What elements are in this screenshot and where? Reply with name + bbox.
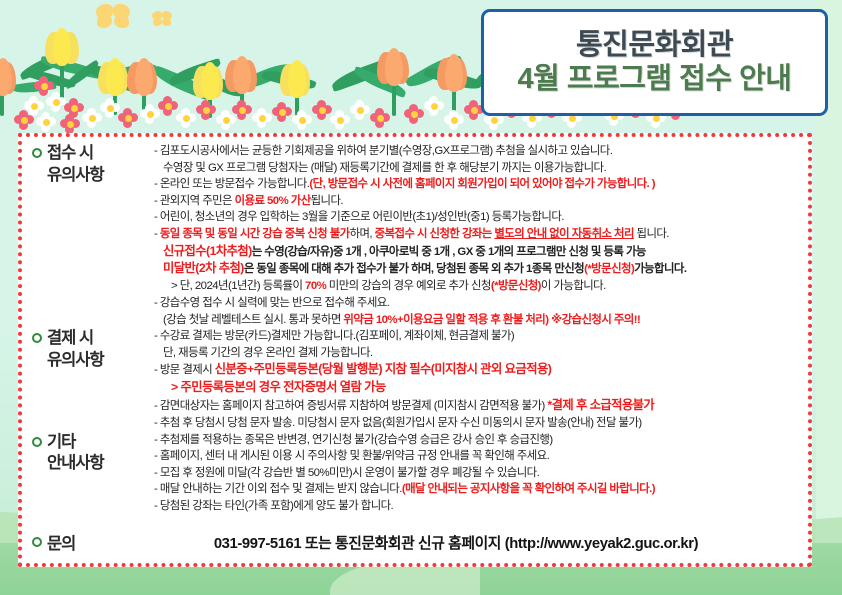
- notice-section-row: 결제 시 유의사항- 수강료 결제는 방문(카드)결제만 가능합니다.(김포페이…: [32, 328, 800, 431]
- notice-line: 미달반(2차 추첨)은 동일 종목에 대해 추가 접수가 불가 하며, 당첨된 …: [154, 260, 800, 278]
- notice-text-run: 신규접수(1차추첨): [163, 244, 252, 258]
- notice-text-run: - 추첨제를 적용하는 종목은 반변경, 연기신청 불가(강습수영 승급은 강사…: [154, 434, 553, 446]
- notice-text-run: - 수강료 결제는 방문(카드)결제만 가능합니다.(김포페이, 계좌이체, 현…: [154, 330, 514, 342]
- notice-text-run: - 강습수영 접수 시 실력에 맞는 반으로 접수해 주세요.: [154, 297, 389, 309]
- pink-flower-icon: [312, 100, 332, 120]
- notice-section-lines-cell: - 추첨제를 적용하는 종목은 반변경, 연기신청 불가(강습수영 승급은 강사…: [154, 432, 800, 515]
- pink-flower-icon: [404, 104, 424, 124]
- notice-line: - 어린이, 청소년의 경우 입학하는 3월을 기준으로 어린이반(초1)/성인…: [154, 209, 800, 226]
- notice-text-run: 단, 재등록 기간의 경우 온라인 결제 가능합니다.: [163, 347, 373, 359]
- pink-flower-icon: [118, 108, 138, 128]
- daisy-icon: [176, 108, 196, 128]
- notice-line: - 강습수영 접수 시 실력에 맞는 반으로 접수해 주세요.: [154, 295, 800, 312]
- tulip-yellow-icon: [98, 58, 128, 92]
- tulip-yellow-icon: [193, 62, 223, 96]
- contact-row: 문의 031-997-5161 또는 통진문화회관 신규 홈페이지 (http:…: [32, 527, 798, 557]
- daisy-icon: [350, 100, 370, 120]
- butterfly-small-icon: [152, 11, 172, 27]
- notice-section-label-cell: 기타 안내사항: [32, 432, 154, 515]
- notice-text-run: - 매달 안내하는 기간 이외 접수 및 결제는 받지 않습니다.: [154, 483, 402, 495]
- pink-flower-icon: [370, 108, 390, 128]
- notice-line: - 매달 안내하는 기간 이외 접수 및 결제는 받지 않습니다.(매달 안내되…: [154, 481, 800, 498]
- notice-section-label-cell: 결제 시 유의사항: [32, 328, 154, 431]
- notice-text-run: - 관외지역 주민은: [154, 195, 235, 207]
- notice-text-run: - 감면대상자는 홈페이지 참고하여 증빙서류 지참하여 방문결제 (미지참시 …: [154, 400, 547, 412]
- notice-text-run: (*방문신청): [491, 280, 541, 292]
- circle-ring-icon: [32, 537, 42, 547]
- notice-line: - 온라인 또는 방문접수 가능합니다.(단, 방문접수 시 사전에 홈페이지 …: [154, 176, 800, 193]
- notice-text-run: 미만의 강습의 경우 예외로 추가 신청: [326, 280, 491, 292]
- notice-line: > 주민등록등본의 경우 전자증명서 열람 가능: [154, 379, 800, 397]
- notice-section-row: 기타 안내사항- 추첨제를 적용하는 종목은 반변경, 연기신청 불가(강습수영…: [32, 432, 800, 515]
- daisy-icon: [82, 108, 102, 128]
- notice-text-run: > 단, 2024년(1년간) 등록률이: [171, 280, 305, 292]
- daisy-icon: [140, 104, 160, 124]
- notice-section-label-cell: 접수 시 유의사항: [32, 143, 154, 328]
- notice-line: - 감면대상자는 홈페이지 참고하여 증빙서류 지참하여 방문결제 (미지참시 …: [154, 397, 800, 415]
- daisy-icon: [252, 108, 272, 128]
- notice-text-run: 미달반(2차 추첨): [163, 261, 244, 275]
- notice-text-run: 신분증+주민등록등본(당월 발행분) 지참 필수(미지참시 관외 요금적용): [215, 362, 552, 376]
- notice-text-run: 됩니다.: [634, 228, 669, 240]
- notice-text-run: 70%: [305, 280, 326, 292]
- notice-line: 수영장 및 GX 프로그램 당첨자는 (매달) 재등록기간에 결제를 한 후 해…: [154, 160, 800, 177]
- notice-text-run: - 홈페이지, 센터 내 게시된 이용 시 주의사항 및 환불/위약금 규정 안…: [154, 450, 549, 462]
- notice-text-run: 가능합니다.: [634, 263, 686, 275]
- tulip-orange-icon: [377, 48, 409, 84]
- notice-text-run: - 김포도시공사에서는 균등한 기회제공을 위하여 분기별(수영장,GX프로그램…: [154, 145, 612, 157]
- notice-text-run: 이용료 50% 가산: [235, 195, 311, 207]
- section-label-text: 결제 시 유의사항: [47, 328, 104, 372]
- notice-line: - 관외지역 주민은 이용료 50% 가산됩니다.: [154, 193, 800, 210]
- notice-line: - 김포도시공사에서는 균등한 기회제공을 위하여 분기별(수영장,GX프로그램…: [154, 143, 800, 160]
- notice-text-run: *결제 후 소급적용불가: [547, 398, 654, 412]
- daisy-icon: [100, 98, 120, 118]
- circle-ring-icon: [32, 437, 42, 447]
- notice-text-run: 중복접수 시 신청한 강좌는: [375, 228, 495, 240]
- notice-text-run: 이 가능합니다.: [541, 280, 606, 292]
- pink-flower-icon: [158, 96, 178, 116]
- daisy-icon: [330, 110, 350, 130]
- tulip-orange-icon: [127, 58, 157, 92]
- notice-text-run: - 어린이, 청소년의 경우 입학하는 3월을 기준으로 어린이반(초1)/성인…: [154, 211, 564, 223]
- notice-text-run: (매달 안내되는 공지사항을 꼭 확인하여 주시길 바랍니다.): [402, 483, 655, 495]
- pink-flower-icon: [196, 100, 216, 120]
- notice-line: - 당첨된 강좌는 타인(가족 포함)에게 양도 불가 합니다.: [154, 498, 800, 515]
- section-label-text: 접수 시 유의사항: [47, 143, 104, 187]
- daisy-icon: [424, 96, 444, 116]
- tulip-orange-icon: [0, 58, 16, 92]
- section-label: 접수 시 유의사항: [32, 143, 154, 187]
- notice-text-run: 수영장 및 GX 프로그램 당첨자는 (매달) 재등록기간에 결제를 한 후 해…: [163, 162, 606, 174]
- notice-text-run: - 추첨 후 당첨시 당첨 문자 발송. 미당첨시 문자 없음(회원가입시 문자…: [154, 417, 642, 429]
- notice-line: - 추첨 후 당첨시 당첨 문자 발송. 미당첨시 문자 없음(회원가입시 문자…: [154, 415, 800, 432]
- daisy-icon: [292, 110, 312, 130]
- butterfly-icon: [96, 4, 130, 30]
- contact-label-text: 문의: [47, 530, 75, 554]
- notice-text-run: - 당첨된 강좌는 타인(가족 포함)에게 양도 불가 합니다.: [154, 500, 393, 512]
- notice-section-lines-cell: - 김포도시공사에서는 균등한 기회제공을 위하여 분기별(수영장,GX프로그램…: [154, 143, 800, 328]
- notice-line: > 단, 2024년(1년간) 등록률이 70% 미만의 강습의 경우 예외로 …: [154, 278, 800, 295]
- notice-table: 접수 시 유의사항- 김포도시공사에서는 균등한 기회제공을 위하여 분기별(수…: [32, 143, 800, 515]
- page-title-subject: 4월 프로그램 접수 안내: [518, 64, 792, 96]
- notice-line: 단, 재등록 기간의 경우 온라인 결제 가능합니다.: [154, 345, 800, 362]
- daisy-icon: [36, 112, 56, 132]
- pink-flower-icon: [14, 110, 34, 130]
- notice-line: - 추첨제를 적용하는 종목은 반변경, 연기신청 불가(강습수영 승급은 강사…: [154, 432, 800, 449]
- notice-text-run: (단, 방문접수 시 사전에 홈페이지 회원가입이 되어 있어야 접수가 가능합…: [309, 178, 655, 190]
- circle-ring-icon: [32, 333, 42, 343]
- circle-ring-icon: [32, 148, 42, 158]
- section-label: 기타 안내사항: [32, 432, 154, 476]
- pink-flower-icon: [272, 102, 292, 122]
- contact-label: 문의: [32, 530, 154, 554]
- notice-text-run: 별도의 안내 없이 자동취소 처리: [494, 228, 634, 240]
- daisy-icon: [444, 110, 464, 130]
- contact-value: 031-997-5161 또는 통진문화회관 신규 홈페이지 (http://w…: [154, 532, 798, 553]
- title-box: 통진문화회관 4월 프로그램 접수 안내: [481, 9, 828, 116]
- notice-text-run: 은 동일 종목에 대해 추가 접수가 불가 하며, 당첨된 종목 외 추가 1종…: [244, 263, 584, 275]
- notice-line: - 수강료 결제는 방문(카드)결제만 가능합니다.(김포페이, 계좌이체, 현…: [154, 328, 800, 345]
- notice-text-run: - 온라인 또는 방문접수 가능합니다.: [154, 178, 309, 190]
- notice-line: 신규접수(1차추첨)는 수영(강습/자유)중 1개 , 아쿠아로빅 중 1개 ,…: [154, 243, 800, 261]
- section-label: 결제 시 유의사항: [32, 328, 154, 372]
- notice-text-run: (*방문신청): [584, 263, 634, 275]
- daisy-icon: [46, 92, 66, 112]
- notice-line: - 동일 종목 및 동일 시간 강습 중복 신청 불가하며, 중복접수 시 신청…: [154, 226, 800, 243]
- page-title-venue: 통진문화회관: [576, 30, 733, 62]
- section-label-text: 기타 안내사항: [47, 432, 104, 476]
- pink-flower-icon: [60, 114, 80, 134]
- notice-section-lines-cell: - 수강료 결제는 방문(카드)결제만 가능합니다.(김포페이, 계좌이체, 현…: [154, 328, 800, 431]
- notice-text-run: > 주민등록등본의 경우 전자증명서 열람 가능: [171, 380, 386, 394]
- notice-text-run: 는 수영(강습/자유)중 1개 , 아쿠아로빅 중 1개 , GX 중 1개의 …: [252, 246, 646, 258]
- notice-text-run: 하며,: [350, 228, 375, 240]
- tulip-yellow-icon: [280, 60, 310, 94]
- notice-text-run: 위약금 10%+이용요금 일할 적용 후 환불 처리) ※강습신청시 주의!!: [343, 314, 640, 326]
- pink-flower-icon: [232, 100, 252, 120]
- notice-panel: 접수 시 유의사항- 김포도시공사에서는 균등한 기회제공을 위하여 분기별(수…: [18, 133, 812, 567]
- notice-line: - 방문 결제시 신분증+주민등록등본(당월 발행분) 지참 필수(미지참시 관…: [154, 361, 800, 379]
- notice-line: (강습 첫날 레벨테스트 실시. 통과 못하면 위약금 10%+이용요금 일할 …: [154, 312, 800, 329]
- tulip-orange-icon: [225, 56, 257, 92]
- notice-text-run: (강습 첫날 레벨테스트 실시. 통과 못하면: [163, 314, 343, 326]
- notice-text-run: 동일 종목 및 동일 시간 강습 중복 신청 불가: [160, 228, 350, 240]
- notice-text-run: - 방문 결제시: [154, 364, 215, 376]
- notice-line: - 홈페이지, 센터 내 게시된 이용 시 주의사항 및 환불/위약금 규정 안…: [154, 448, 800, 465]
- tulip-orange-icon: [437, 54, 467, 88]
- notice-text-run: - 모집 후 정원에 미달(각 강습반 별 50%미만)시 운영이 불가할 경우…: [154, 467, 539, 479]
- notice-text-run: 됩니다.: [311, 195, 343, 207]
- tulip-yellow-icon: [45, 28, 79, 68]
- notice-line: - 모집 후 정원에 미달(각 강습반 별 50%미만)시 운영이 불가할 경우…: [154, 465, 800, 482]
- notice-section-row: 접수 시 유의사항- 김포도시공사에서는 균등한 기회제공을 위하여 분기별(수…: [32, 143, 800, 328]
